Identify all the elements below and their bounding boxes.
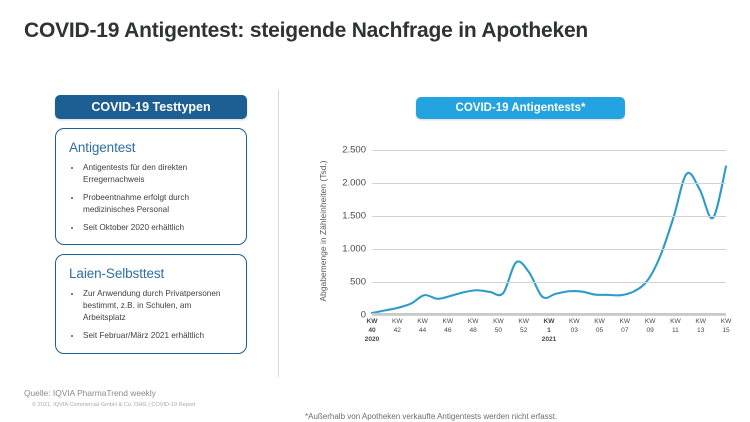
- series-line: [372, 167, 726, 314]
- x-tick-label: KW15: [709, 318, 743, 336]
- y-tick-label: 500: [350, 277, 366, 288]
- copyright-note: © 2021, IQVIA Commercial GmbH & Co. OHG …: [32, 402, 196, 408]
- chart-footnote: *Außerhalb von Apotheken verkaufte Antig…: [305, 412, 557, 421]
- y-tick-label: 1.000: [342, 244, 366, 255]
- line-chart: Abgabemenge in Zähleinheiten (Tsd.) 0500…: [300, 150, 740, 385]
- series-line-svg: [372, 150, 726, 315]
- gridline: [372, 216, 726, 217]
- card-antigentest-bullets: Antigentests für den direkten Erregernac…: [67, 162, 235, 233]
- gridline: [372, 315, 726, 316]
- list-item: Seit Februar/März 2021 erhältlich: [67, 330, 235, 342]
- chart-badge: COVID-19 Antigentests*: [416, 97, 625, 119]
- test-types-badge: COVID-19 Testtypen: [55, 95, 247, 119]
- test-types-panel: COVID-19 Testtypen Antigentest Antigente…: [55, 95, 247, 354]
- plot-area: [372, 150, 726, 315]
- gridline: [372, 249, 726, 250]
- gridline: [372, 183, 726, 184]
- gridline: [372, 150, 726, 151]
- y-tick-label: 2.500: [342, 145, 366, 156]
- y-axis-ticks: 05001.0001.5002.0002.500: [318, 150, 366, 315]
- list-item: Seit Oktober 2020 erhältlich: [67, 222, 235, 234]
- card-antigentest: Antigentest Antigentests für den direkte…: [55, 128, 247, 245]
- card-laien-selbsttest-title: Laien-Selbsttest: [69, 266, 235, 281]
- card-laien-selbsttest-bullets: Zur Anwendung durch Privatpersonen besti…: [67, 288, 235, 342]
- gridline: [372, 282, 726, 283]
- card-antigentest-title: Antigentest: [69, 140, 235, 155]
- list-item: Zur Anwendung durch Privatpersonen besti…: [67, 288, 235, 324]
- x-axis-labels: KW402020KW42KW44KW46KW48KW50KW52KW12021K…: [372, 318, 726, 364]
- card-laien-selbsttest: Laien-Selbsttest Zur Anwendung durch Pri…: [55, 254, 247, 354]
- y-tick-label: 1.500: [342, 211, 366, 222]
- slide-root: COVID-19 Antigentest: steigende Nachfrag…: [0, 0, 750, 422]
- column-divider: [278, 90, 279, 377]
- y-tick-label: 2.000: [342, 178, 366, 189]
- source-note: Quelle: IQVIA PharmaTrend weekly: [24, 388, 156, 398]
- list-item: Probeentnahme erfolgt durch medizinische…: [67, 192, 235, 216]
- list-item: Antigentests für den direkten Erregernac…: [67, 162, 235, 186]
- page-title: COVID-19 Antigentest: steigende Nachfrag…: [24, 19, 588, 43]
